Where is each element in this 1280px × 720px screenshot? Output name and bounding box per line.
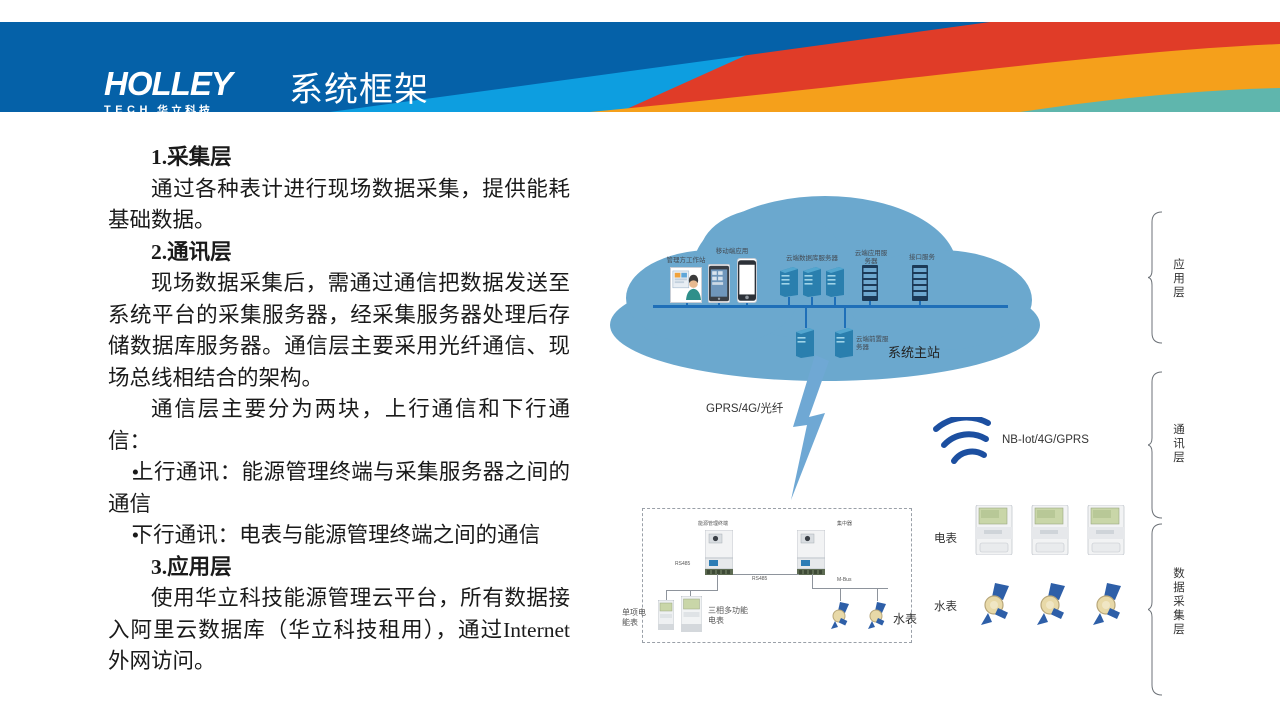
bullet-dot-icon: • (108, 457, 132, 489)
layer-label-communication: 通讯层 (1172, 423, 1186, 465)
cloud-node-label-appserver: 云端应用服务器 (852, 250, 890, 266)
interface-drop-line (919, 301, 921, 307)
front-end-server-icon (835, 328, 853, 358)
water-meter-icon (866, 600, 890, 630)
database-server-icon (826, 267, 844, 297)
bullet-dot-icon: • (108, 520, 132, 552)
application-server-icon (862, 265, 878, 301)
terminal-down-line (717, 574, 718, 591)
wifi-signal-icon (932, 417, 994, 469)
concentrator-label: 集中器 (837, 521, 852, 528)
electric-meter-icon (974, 505, 1016, 555)
logo-tech-text: TECH (104, 104, 152, 112)
concentrator-down-line (812, 574, 813, 589)
body-text-column: 1.采集层 通过各种表计进行现场数据采集，提供能耗基础数据。 2.通讯层 现场数… (108, 142, 570, 678)
layer-label-data-collection: 数据采集层 (1172, 567, 1186, 637)
water-meter-icon (829, 600, 853, 630)
section-paragraph-2b: 通信层主要分为两块，上行通信和下行通信： (108, 394, 570, 457)
logo-chinese-text: 华立科技 (157, 102, 213, 112)
water-meter-icon (1090, 580, 1128, 626)
holley-logo: HOLLEY TECH 华立科技 (104, 67, 264, 112)
layer-bracket-data-collection (1148, 522, 1172, 697)
bullet-item-2: •下行通讯：电表与能源管理终端之间的通信 (108, 520, 570, 552)
workstation-drop-line (686, 303, 688, 307)
layer-bracket-application (1148, 210, 1172, 345)
water-meter-row-label: 水表 (934, 598, 957, 614)
page-title: 系统框架 (289, 67, 429, 112)
section-heading-1: 1.采集层 (108, 142, 570, 174)
energy-management-terminal-icon (705, 530, 733, 575)
mbus-label: M-Bus (837, 577, 851, 584)
db-drop-line (788, 297, 790, 307)
smartphone-icon (737, 258, 757, 303)
three-phase-meter-icon (681, 596, 702, 632)
rs485-label-middle: RS485 (752, 576, 767, 583)
workstation-icon (670, 267, 702, 303)
rs485-label-left: RS485 (675, 561, 690, 568)
cloud-caption: 系统主站 (888, 342, 940, 361)
concentrator-icon (797, 530, 825, 575)
frontend-riser-line (805, 308, 807, 328)
terminal-label: 能源管理终端 (698, 521, 728, 528)
db-drop-line (834, 297, 836, 307)
tablet-drop-line (718, 303, 720, 307)
phone-drop-line (746, 303, 748, 307)
slide-canvas: HOLLEY TECH 华立科技 系统框架 1.采集层 通过各种表计进行现场数据… (0, 0, 1280, 720)
water-meter-icon (1034, 580, 1072, 626)
rs485-bus-line (733, 574, 799, 575)
electric-meter-row-label: 电表 (934, 530, 957, 546)
cloud-bus-line (653, 305, 1008, 308)
cloud-node-label-database: 云端数据库服务器 (772, 255, 852, 263)
db-drop-line (811, 297, 813, 307)
logo-subtext: TECH 华立科技 (104, 102, 264, 112)
three-phase-meter-label: 三相多功能电表 (708, 606, 754, 626)
section-heading-3: 3.应用层 (108, 552, 570, 584)
cloud-shape (600, 170, 1050, 385)
single-phase-meter-label: 单项电能表 (622, 608, 652, 628)
section-paragraph-1: 通过各种表计进行现场数据采集，提供能耗基础数据。 (108, 174, 570, 237)
logo-wordmark: HOLLEY (104, 67, 264, 100)
lightning-bolt-icon (785, 355, 833, 500)
bullet-item-1: •上行通讯：能源管理终端与采集服务器之间的通信 (108, 457, 570, 520)
left-meter-branch (666, 590, 718, 591)
front-end-server-icon (796, 328, 814, 358)
water-meter-icon (978, 580, 1016, 626)
mobile-app-icon (708, 264, 730, 303)
frontend-riser-line (844, 308, 846, 328)
slide-header: HOLLEY TECH 华立科技 系统框架 (0, 22, 1280, 112)
cloud-node-label-mobile: 移动端应用 (704, 248, 760, 256)
electric-meter-icon (1086, 505, 1128, 555)
database-server-icon (780, 267, 798, 297)
field-water-meter-label: 水表 (893, 610, 917, 627)
uplink-protocol-label: GPRS/4G/光纤 (706, 400, 783, 416)
single-phase-meter-icon (658, 600, 674, 630)
layer-label-application: 应用层 (1172, 258, 1186, 300)
cloud-node-label-interface: 接口服务 (904, 254, 940, 262)
interface-service-icon (912, 265, 928, 301)
section-heading-2: 2.通讯层 (108, 237, 570, 269)
wireless-protocol-label: NB-Iot/4G/GPRS (1002, 434, 1089, 446)
section-paragraph-3: 使用华立科技能源管理云平台，所有数据接入阿里云数据库（华立科技租用），通过Int… (108, 583, 570, 678)
bullet-text-1: 上行通讯：能源管理终端与采集服务器之间的通信 (108, 460, 570, 516)
appserver-drop-line (869, 301, 871, 307)
section-paragraph-2a: 现场数据采集后，需通过通信把数据发送至系统平台的采集服务器，经采集服务器处理后存… (108, 268, 570, 394)
layer-bracket-communication (1148, 370, 1172, 520)
electric-meter-icon (1030, 505, 1072, 555)
database-server-icon (803, 267, 821, 297)
bullet-text-2: 下行通讯：电表与能源管理终端之间的通信 (132, 523, 541, 547)
system-architecture-diagram: 管理方工作站 移动端应用 (600, 130, 1280, 690)
